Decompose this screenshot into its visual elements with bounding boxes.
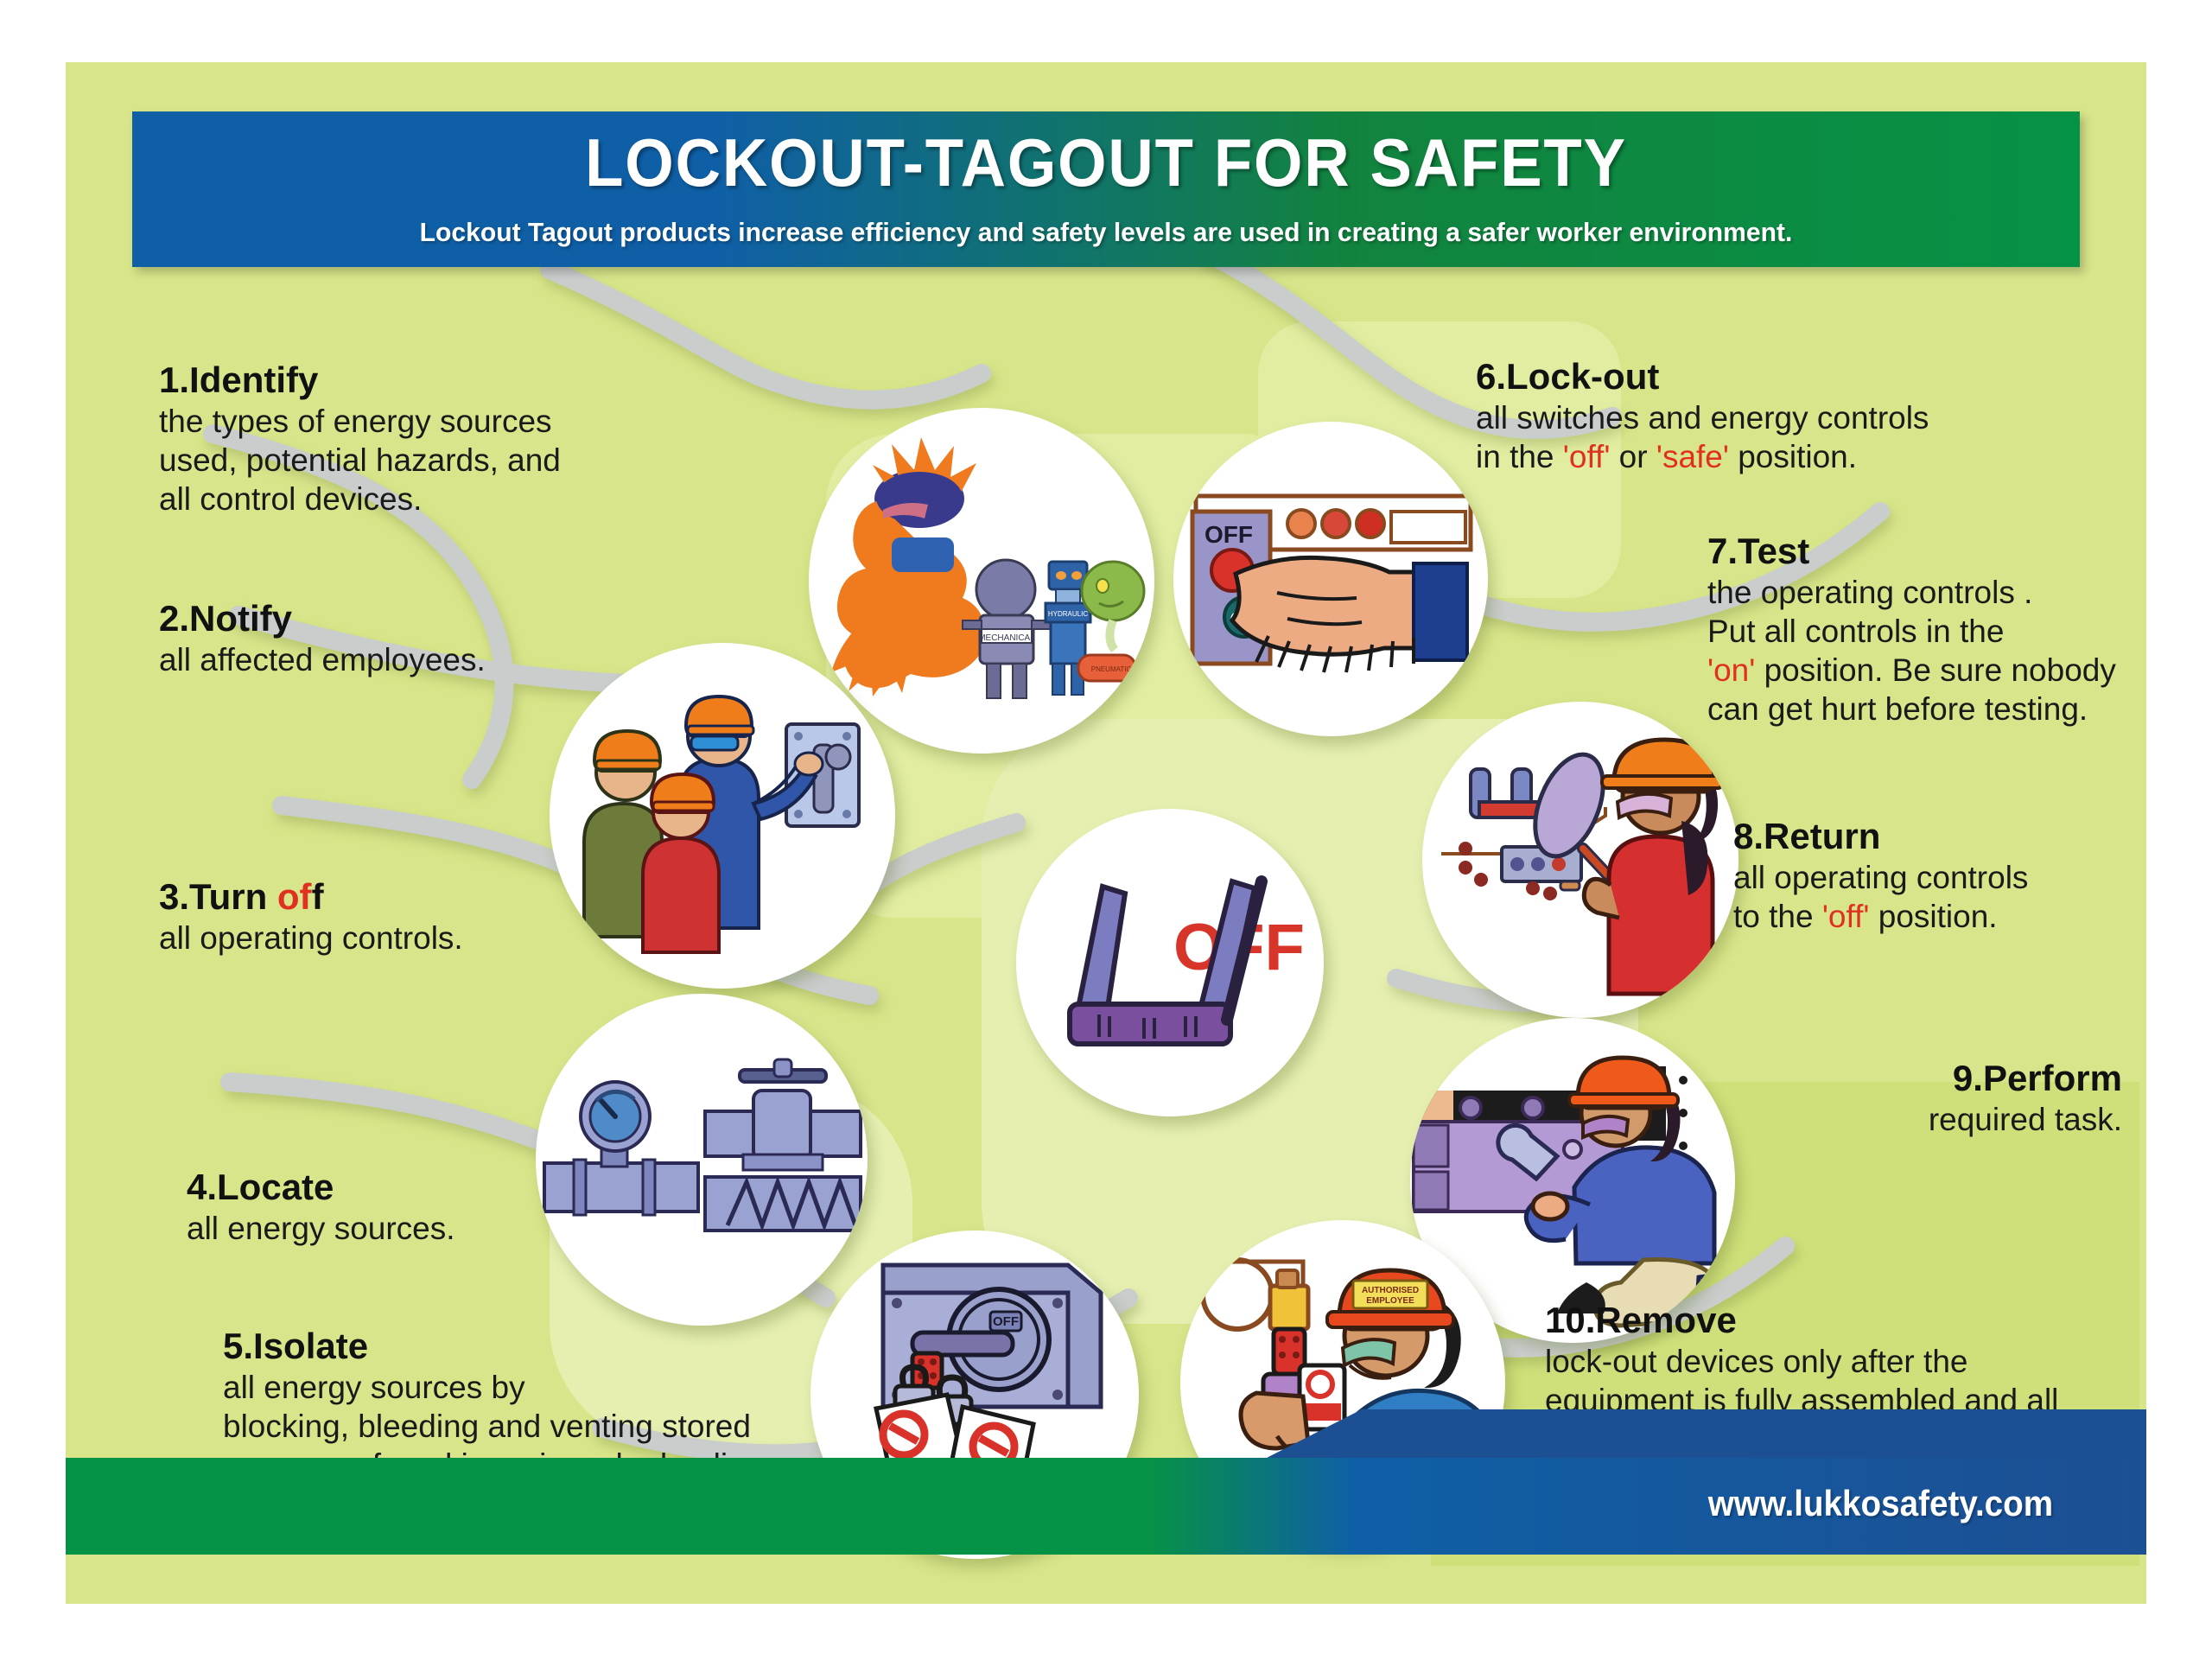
svg-text:HYDRAULIC: HYDRAULIC	[1048, 610, 1088, 618]
step-8-body: all operating controls to the 'off' posi…	[1733, 858, 2146, 936]
step-8: 8.Return all operating controls to the '…	[1733, 816, 2146, 936]
step-7: 7.Test the operating controls . Put all …	[1707, 531, 2146, 729]
step-9: 9.Perform required task.	[1673, 1058, 2122, 1139]
illustration-test-controls	[1422, 702, 1738, 1018]
step-1: 1.Identify the types of energy sources u…	[159, 359, 608, 518]
svg-text:OFF: OFF	[993, 1314, 1019, 1329]
step-7-heading: 7.Test	[1707, 531, 2146, 571]
step-1-heading: 1.Identify	[159, 359, 608, 400]
svg-text:EMPLOYEE: EMPLOYEE	[1366, 1296, 1414, 1306]
step-3: 3.Turn off all operating controls.	[159, 876, 608, 957]
poster-card: LOCKOUT-TAGOUT FOR SAFETY Lockout Tagout…	[66, 62, 2146, 1604]
step-10-heading: 10.Remove	[1545, 1300, 2146, 1340]
step-2: 2.Notify all affected employees.	[159, 598, 608, 679]
illustration-valves-gauge	[536, 994, 868, 1326]
step-4: 4.Locate all energy sources.	[187, 1167, 636, 1248]
step-6: 6.Lock-out all switches and energy contr…	[1476, 356, 2098, 476]
step-6-heading: 6.Lock-out	[1476, 356, 2098, 397]
header-banner: LOCKOUT-TAGOUT FOR SAFETY Lockout Tagout…	[132, 111, 2080, 267]
illustration-energy-sources: MECHANICAL HYDRAULIC	[809, 408, 1154, 754]
step-5-heading: 5.Isolate	[223, 1326, 810, 1366]
svg-text:AUTHORISED: AUTHORISED	[1362, 1286, 1419, 1295]
step-7-body: the operating controls . Put all control…	[1707, 573, 2146, 729]
page-subtitle: Lockout Tagout products increase efficie…	[162, 217, 2050, 248]
step-2-body: all affected employees.	[159, 640, 608, 679]
step-2-heading: 2.Notify	[159, 598, 608, 639]
step-9-body: required task.	[1673, 1100, 2122, 1139]
step-6-body: all switches and energy controls in the …	[1476, 398, 2098, 476]
step-9-heading: 9.Perform	[1673, 1058, 2122, 1098]
illustration-center-tag: OFF	[1016, 809, 1324, 1116]
svg-text:MECHANICAL: MECHANICAL	[978, 633, 1035, 643]
step-4-heading: 4.Locate	[187, 1167, 636, 1207]
step-8-heading: 8.Return	[1733, 816, 2146, 856]
poster-root: LOCKOUT-TAGOUT FOR SAFETY Lockout Tagout…	[0, 0, 2212, 1660]
step-3-body: all operating controls.	[159, 919, 608, 957]
website-link[interactable]: www.lukkosafety.com	[1708, 1483, 2053, 1524]
step-1-body: the types of energy sources used, potent…	[159, 402, 608, 518]
illustration-off-button: OFF ON	[1173, 422, 1488, 736]
footer-notch	[1267, 1409, 2146, 1458]
page-title: LOCKOUT-TAGOUT FOR SAFETY	[200, 124, 2012, 202]
svg-text:OFF: OFF	[1205, 521, 1253, 548]
svg-text:PNEUMATIC: PNEUMATIC	[1091, 665, 1132, 673]
step-3-heading: 3.Turn off	[159, 876, 608, 917]
step-4-body: all energy sources.	[187, 1209, 636, 1248]
